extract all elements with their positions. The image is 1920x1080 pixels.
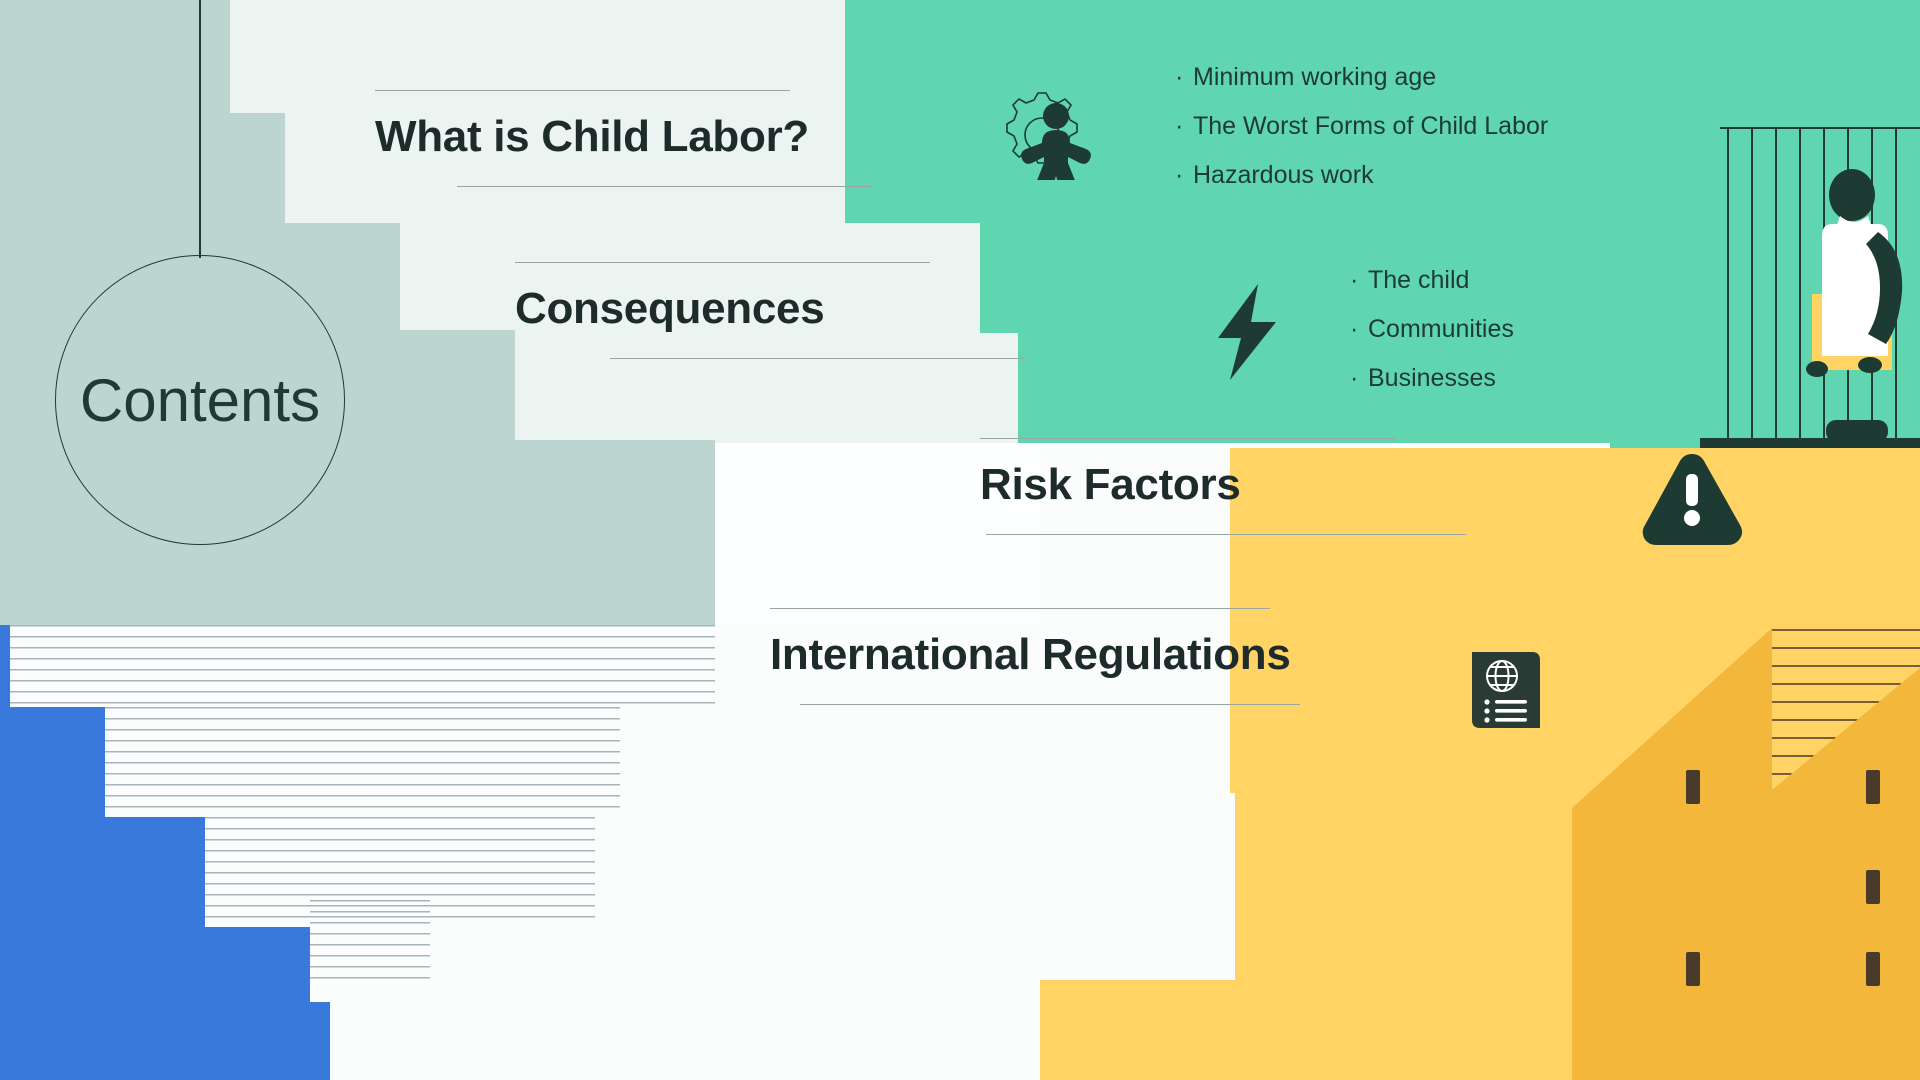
entry-3-title: Risk Factors — [980, 462, 1241, 508]
bullet-text: The child — [1368, 266, 1469, 294]
gear-child-icon — [1000, 90, 1096, 180]
entry-4-rule-top — [770, 608, 1270, 609]
bullet-item: ·Hazardous work — [1175, 163, 1548, 188]
blue-stair-3 — [0, 817, 205, 927]
bullet-item: ·Communities — [1350, 317, 1514, 342]
entry-2-title: Consequences — [515, 286, 824, 332]
blue-stair-4 — [0, 927, 310, 1002]
sage-column-3 — [515, 440, 715, 625]
contents-entry-4[interactable]: International Regulations — [770, 608, 1291, 678]
contents-badge: Contents — [55, 255, 345, 545]
entry-1-rule-top — [375, 90, 790, 91]
bullet-marker: · — [1350, 268, 1368, 293]
contents-entry-1[interactable]: What is Child Labor? — [375, 90, 809, 160]
bullet-text: Communities — [1368, 315, 1514, 343]
bullet-marker: · — [1350, 366, 1368, 391]
blue-stair-5 — [0, 1002, 330, 1080]
entry-1-bullet-list: ·Minimum working age ·The Worst Forms of… — [1175, 65, 1548, 212]
bullet-marker: · — [1175, 65, 1193, 90]
blue-stair-2 — [0, 707, 105, 817]
bullet-marker: · — [1175, 163, 1193, 188]
bullet-text: Hazardous work — [1193, 161, 1374, 189]
contents-entry-3[interactable]: Risk Factors — [980, 438, 1241, 508]
bullet-item: ·The Worst Forms of Child Labor — [1175, 114, 1548, 139]
bullet-item: ·The child — [1350, 268, 1514, 293]
contents-slide: Contents What is Child Labor? ·Minimum w… — [0, 0, 1920, 1080]
cage-floor-line — [1700, 438, 1920, 448]
entry-1-rule-bottom — [457, 186, 872, 187]
blue-stair-1 — [0, 625, 10, 707]
stair-riser-2 — [510, 333, 1018, 443]
bullet-text: Minimum working age — [1193, 63, 1436, 91]
stripe-panel-1 — [10, 625, 715, 707]
entry-3-rule-bottom — [986, 534, 1466, 535]
warning-triangle-icon — [1638, 448, 1746, 548]
entry-2-rule-bottom — [610, 358, 1025, 359]
entry-2-bullet-list: ·The child ·Communities ·Businesses — [1350, 268, 1514, 415]
entry-3-rule-top — [980, 438, 1395, 439]
bullet-text: The Worst Forms of Child Labor — [1193, 112, 1548, 140]
entry-4-rule-bottom — [800, 704, 1300, 705]
lightning-bolt-icon — [1208, 282, 1286, 382]
entry-2-rule-top — [515, 262, 930, 263]
globe-document-icon — [1468, 648, 1544, 732]
bullet-text: Businesses — [1368, 364, 1496, 392]
bullet-marker: · — [1350, 317, 1368, 342]
stripe-panel-2 — [105, 707, 620, 817]
page-title: Contents — [55, 255, 345, 545]
contents-entry-2[interactable]: Consequences — [515, 262, 824, 332]
cage-bars-illustration — [1720, 120, 1920, 440]
factory-building-illustration — [1540, 590, 1920, 1080]
bullet-item: ·Minimum working age — [1175, 65, 1548, 90]
entry-4-title: International Regulations — [770, 632, 1291, 678]
yellow-notch-4 — [1040, 793, 1235, 980]
bullet-item: ·Businesses — [1350, 366, 1514, 391]
entry-1-title: What is Child Labor? — [375, 114, 809, 160]
yellow-notch-3 — [1040, 663, 1230, 793]
bullet-marker: · — [1175, 114, 1193, 139]
contents-connector-line — [199, 0, 201, 258]
stripe-panel-4 — [310, 900, 430, 985]
